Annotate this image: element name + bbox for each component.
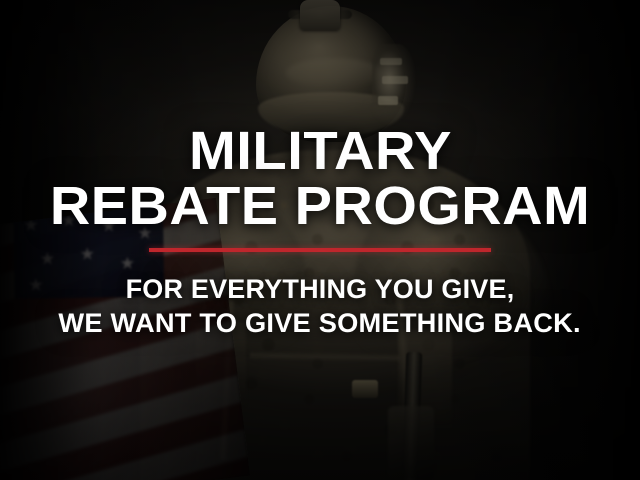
headline-line-2: REBATE PROGRAM: [50, 181, 590, 233]
military-rebate-poster: ★ ★ ★ ★ ★ ★ ★ ★ MILITARY REBATE PROGRAM …: [0, 0, 640, 480]
headline-line-1: MILITARY: [188, 126, 451, 178]
subheadline-line-1: FOR EVERYTHING YOU GIVE,: [126, 274, 515, 306]
poster-content: MILITARY REBATE PROGRAM FOR EVERYTHING Y…: [0, 0, 640, 480]
subheadline-line-2: WE WANT TO GIVE SOMETHING BACK.: [59, 308, 581, 340]
red-divider-rule: [149, 248, 491, 252]
